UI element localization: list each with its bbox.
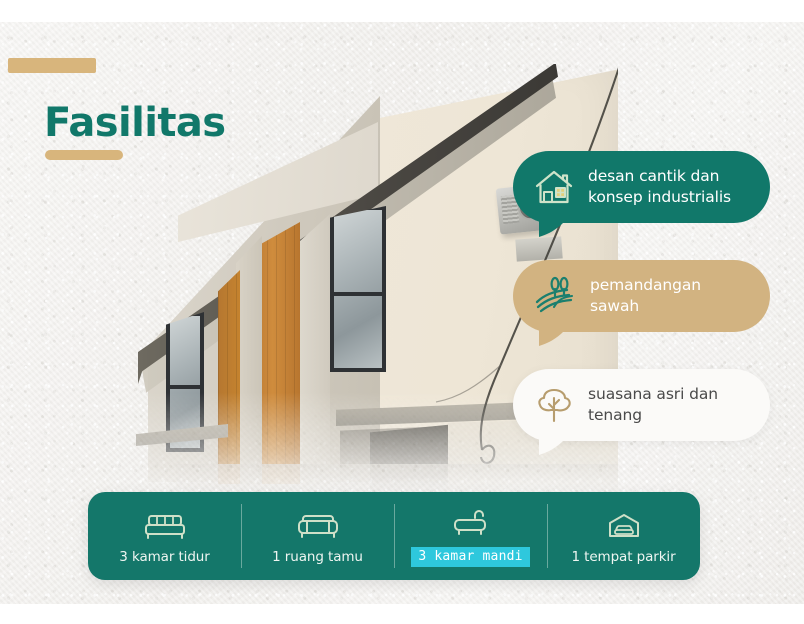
feature-item-bathrooms[interactable]: 3 kamar mandi — [394, 492, 547, 580]
title-accent-bar-top — [8, 58, 96, 73]
feature-callout-atmosphere[interactable]: suasana asri dan tenang — [513, 369, 770, 441]
feature-callout-design-text: desan cantik dan konsep industrialis — [588, 166, 731, 207]
feature-summary-bar: 3 kamar tidur 1 ruang tamu 3 kamar mandi — [88, 492, 700, 580]
page-title: Fasilitas — [44, 100, 225, 146]
door-grain — [258, 222, 300, 484]
bottom-white-band — [0, 604, 804, 624]
feature-item-parking[interactable]: 1 tempat parkir — [547, 492, 700, 580]
wooden-door-main — [258, 222, 300, 484]
callout-line-2: konsep industrialis — [588, 187, 731, 208]
slide-canvas: Fasilitas desan cantik dan konsep indust… — [0, 0, 804, 624]
bed-icon — [141, 508, 189, 544]
feature-item-bedrooms[interactable]: 3 kamar tidur — [88, 492, 241, 580]
sofa-icon — [294, 508, 342, 544]
callout-line-2: tenang — [588, 405, 718, 426]
feature-label-livingroom: 1 ruang tamu — [272, 549, 363, 565]
bubble-tail-3 — [537, 432, 575, 456]
feature-callout-atmosphere-text: suasana asri dan tenang — [588, 384, 718, 425]
callout-line-2: sawah — [590, 296, 701, 317]
callout-line-1: suasana asri dan — [588, 384, 718, 405]
wooden-door-secondary — [218, 270, 240, 484]
house-icon — [533, 167, 575, 207]
wall-pilaster-outer — [300, 214, 330, 484]
feature-label-bedrooms: 3 kamar tidur — [119, 549, 209, 565]
feature-callout-view-text: pemandangan sawah — [590, 275, 701, 316]
feature-label-bathrooms: 3 kamar mandi — [411, 547, 529, 567]
feature-callout-view[interactable]: pemandangan sawah — [513, 260, 770, 332]
top-white-band — [0, 0, 804, 22]
bubble-tail-2 — [537, 323, 575, 347]
title-accent-bar-bottom — [45, 150, 123, 160]
carport-icon — [600, 508, 648, 544]
bubble-tail-1 — [537, 214, 575, 238]
feature-label-parking: 1 tempat parkir — [571, 549, 675, 565]
window-mullion-2 — [170, 385, 200, 389]
door-grain-2 — [218, 270, 240, 484]
callout-line-1: pemandangan — [590, 275, 701, 296]
tree-icon — [533, 385, 575, 425]
window-upper-right — [330, 206, 386, 372]
rice-field-icon — [533, 276, 577, 316]
feature-callout-design[interactable]: desan cantik dan konsep industrialis — [513, 151, 770, 223]
bathtub-icon — [447, 506, 495, 542]
callout-line-1: desan cantik dan — [588, 166, 731, 187]
feature-item-livingroom[interactable]: 1 ruang tamu — [241, 492, 394, 580]
window-mullion — [334, 292, 382, 296]
